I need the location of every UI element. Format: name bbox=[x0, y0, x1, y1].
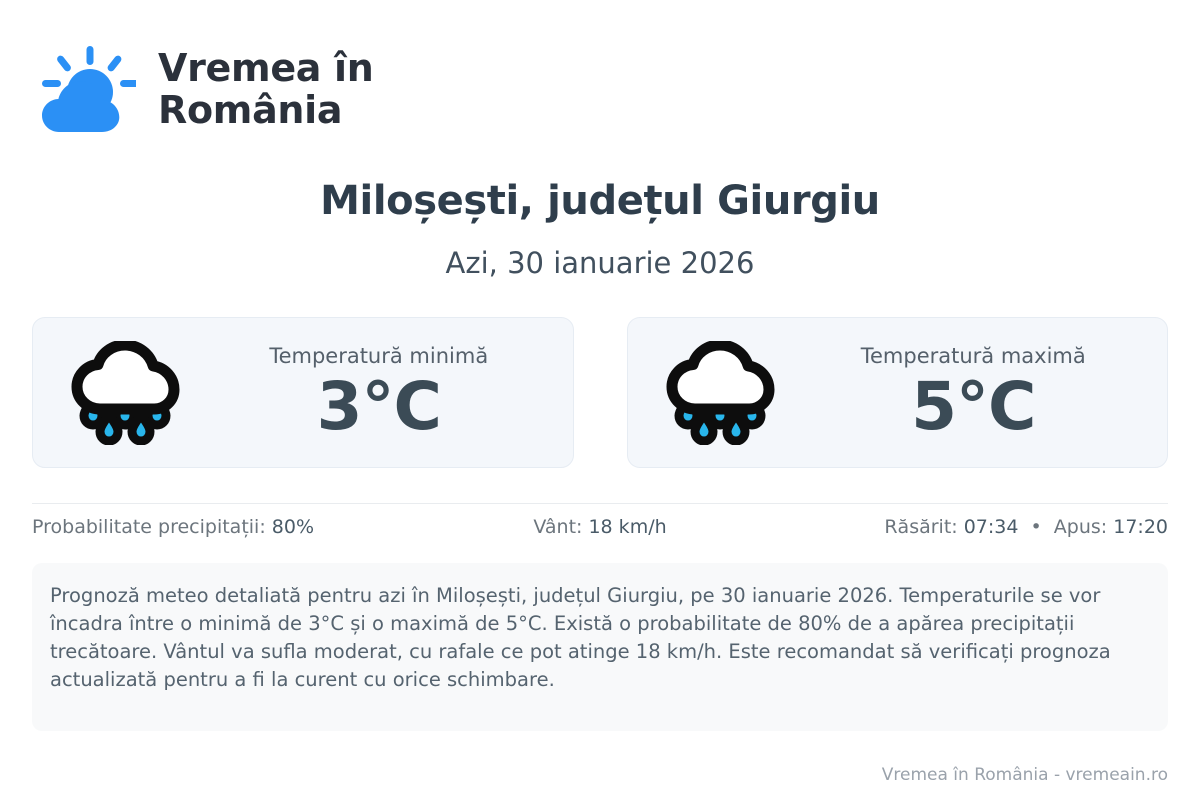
sunset-value: 17:20 bbox=[1113, 516, 1168, 538]
card-temperature-max: Temperatură maximă 5°C bbox=[627, 317, 1169, 468]
sunset-label: Apus: bbox=[1054, 516, 1107, 538]
brand-name-line2: România bbox=[158, 90, 374, 132]
wind-label: Vânt: bbox=[533, 516, 582, 538]
card-max-label: Temperatură maximă bbox=[861, 344, 1086, 368]
card-min-body: Temperatură minimă 3°C bbox=[209, 344, 549, 441]
sun-behind-cloud-icon bbox=[32, 44, 136, 136]
rain-cloud-icon bbox=[662, 341, 778, 445]
sunrise-value: 07:34 bbox=[964, 516, 1019, 538]
forecast-description-text: Prognoză meteo detaliată pentru azi în M… bbox=[50, 582, 1146, 694]
weather-page: Vremea în România Miloșești, județul Giu… bbox=[0, 0, 1200, 800]
card-min-label: Temperatură minimă bbox=[269, 344, 488, 368]
sunrise-label: Răsărit: bbox=[884, 516, 957, 538]
page-title: Miloșești, județul Giurgiu bbox=[32, 178, 1168, 224]
weather-stats: Probabilitate precipitații: 80% Vânt: 18… bbox=[32, 504, 1168, 550]
brand-name: Vremea în România bbox=[158, 48, 374, 132]
card-min-value: 3°C bbox=[317, 372, 441, 441]
stat-separator: • bbox=[1025, 516, 1048, 538]
brand-name-line1: Vremea în bbox=[158, 48, 374, 90]
card-max-value: 5°C bbox=[911, 372, 1035, 441]
precipitation-label: Probabilitate precipitații: bbox=[32, 516, 266, 538]
stat-sun-times: Răsărit: 07:34 • Apus: 17:20 bbox=[789, 516, 1168, 538]
stat-wind: Vânt: 18 km/h bbox=[411, 516, 790, 538]
card-temperature-min: Temperatură minimă 3°C bbox=[32, 317, 574, 468]
rain-cloud-icon bbox=[67, 341, 183, 445]
wind-value: 18 km/h bbox=[588, 516, 666, 538]
page-subtitle: Azi, 30 ianuarie 2026 bbox=[32, 246, 1168, 280]
forecast-description-box: Prognoză meteo detaliată pentru azi în M… bbox=[32, 563, 1168, 731]
card-max-body: Temperatură maximă 5°C bbox=[804, 344, 1144, 441]
stat-precipitation: Probabilitate precipitații: 80% bbox=[32, 516, 411, 538]
site-brand[interactable]: Vremea în România bbox=[32, 0, 1168, 136]
site-footer: Vremea în România - vremeain.ro bbox=[882, 765, 1168, 785]
temperature-cards: Temperatură minimă 3°C Temper bbox=[32, 317, 1168, 468]
precipitation-value: 80% bbox=[272, 516, 314, 538]
